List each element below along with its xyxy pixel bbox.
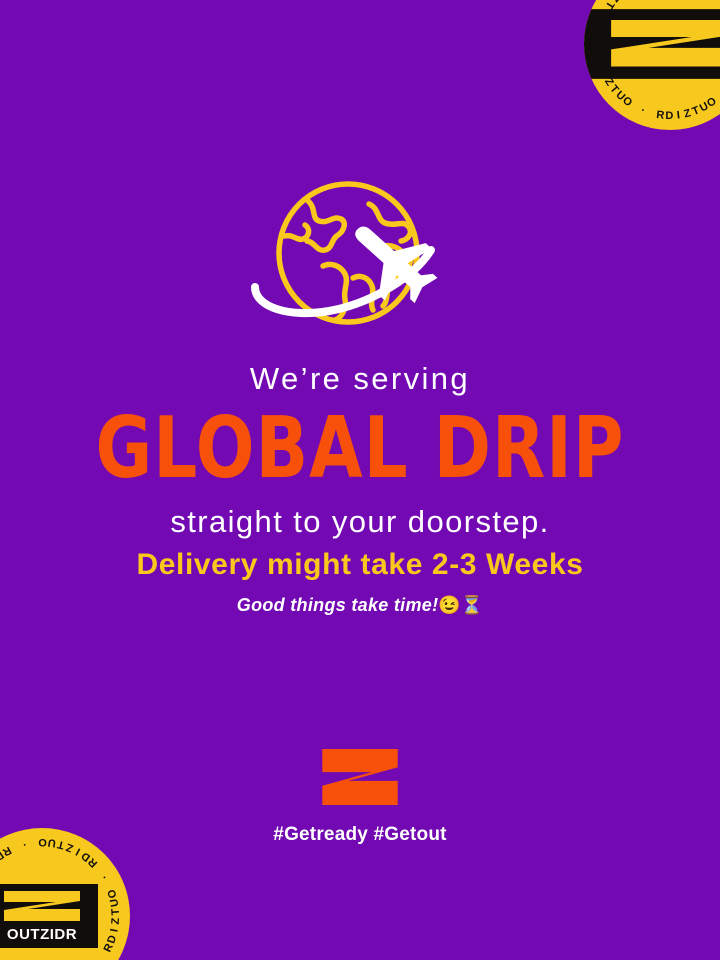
- z-monogram-icon: [0, 889, 84, 923]
- badge-ring-char: R: [85, 855, 100, 870]
- reassurance-line: Good things take time!😉⏳: [0, 595, 720, 617]
- subline-text: straight to your doorstep.: [0, 505, 720, 539]
- badge-ring-char: O: [620, 95, 635, 110]
- badge-ring-char: I: [676, 109, 682, 121]
- badge-core-bottom-left: OUTZIDR: [0, 884, 98, 948]
- badge-core-box: OUTZIDR: [0, 884, 98, 948]
- badge-ring-char: D: [665, 110, 674, 122]
- badge-ring-char: I: [108, 927, 121, 933]
- badge-core-top-right: [584, 9, 720, 79]
- page-title: GLOBAL DRIP: [14, 405, 705, 490]
- delivery-notice-block: Delivery might take 2-3 Weeks Good thing…: [0, 548, 720, 617]
- hero-globe-airplane-graphic: [0, 178, 720, 343]
- svg-text:OUTZIDR: OUTZIDR: [7, 926, 77, 942]
- badge-ring-char: Z: [607, 0, 621, 5]
- outzidr-z-monogram-icon: [319, 748, 401, 806]
- promo-poster: OUTZIDR·OUTZIDR·OUTZIDR·OUTZIDR·OUTZIDR·…: [0, 0, 720, 960]
- badge-ring-char: ·: [98, 871, 111, 882]
- badge-ring-char: U: [698, 100, 712, 115]
- reassurance-text: Good things take time!: [237, 595, 439, 615]
- hashtags-text: #Getready #Getout: [0, 824, 720, 846]
- badge-wordmark: OUTZIDR: [0, 925, 89, 942]
- badge-ring-char: Z: [683, 107, 694, 121]
- globe-with-airplane-icon: [245, 178, 475, 343]
- badge-ring-char: R: [656, 109, 667, 122]
- badge-ring-char: U: [613, 89, 628, 104]
- badge-ring-char: I: [73, 845, 83, 858]
- badge-ring-char: Z: [110, 916, 122, 925]
- delivery-estimate-text: Delivery might take 2-3 Weeks: [0, 548, 720, 581]
- headline-copy-block: We’re serving GLOBAL DRIP straight to yo…: [0, 362, 720, 540]
- z-monogram-icon: [605, 17, 720, 70]
- badge-ring-char: R: [102, 941, 117, 954]
- airplane-icon: [334, 203, 449, 317]
- badge-ring-char: O: [105, 887, 119, 900]
- badge-ring-char: ·: [639, 104, 648, 117]
- badge-ring-char: T: [607, 83, 621, 97]
- badge-ring-char: D: [78, 849, 92, 864]
- badge-core-box: [584, 9, 720, 79]
- reassurance-emoji: 😉⏳: [438, 595, 483, 615]
- eyebrow-text: We’re serving: [0, 362, 720, 395]
- footer-block: #Getready #Getout: [0, 748, 720, 846]
- badge-ring-char: D: [105, 933, 119, 945]
- badge-ring-char: D: [0, 849, 6, 864]
- badge-ring-char: T: [110, 907, 122, 916]
- brand-badge-bottom-left: OUTZIDR·OUTZIDR·OUTZIDR·OUTZIDR·OUTZIDR·…: [0, 828, 130, 960]
- badge-ring-char: U: [108, 897, 122, 908]
- badge-ring-char: T: [691, 104, 703, 118]
- badge-ring-char: O: [705, 95, 720, 110]
- brand-badge-top-right: OUTZIDR·OUTZIDR·OUTZIDR·OUTZIDR·OUTZIDR·: [584, 0, 720, 130]
